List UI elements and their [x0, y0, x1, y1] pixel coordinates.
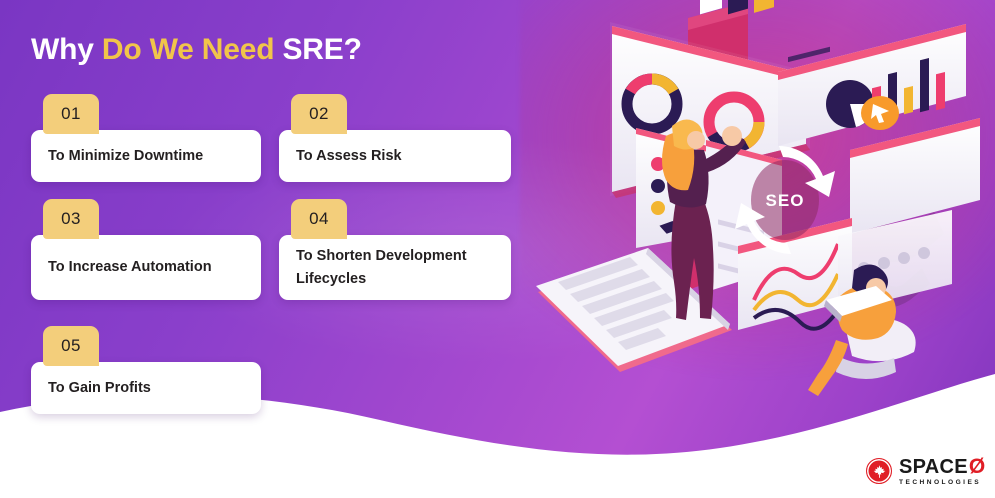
reason-number-badge: 04: [291, 199, 347, 239]
reason-number-badge: 02: [291, 94, 347, 134]
cursor-badge-icon: [861, 96, 899, 130]
brand-wordmark: SPACEØ TECHNOLOGIES: [899, 456, 986, 487]
reason-label: To Increase Automation: [31, 235, 261, 300]
seo-label: SEO: [766, 191, 805, 210]
brand-name-text: SPACE: [899, 457, 968, 477]
reason-card-5[interactable]: 05 To Gain Profits: [31, 326, 261, 414]
seo-isometric-illustration: SEO: [520, 0, 995, 440]
reason-label: To Assess Risk: [279, 130, 511, 182]
page-title-part2: SRE?: [274, 33, 361, 66]
reason-card-2[interactable]: 02 To Assess Risk: [279, 94, 511, 182]
reason-label: To Shorten Development Lifecycles: [279, 235, 511, 300]
reason-card-4[interactable]: 04 To Shorten Development Lifecycles: [279, 199, 511, 300]
page-title: Why Do We Need SRE?: [31, 33, 362, 67]
reason-number-badge: 05: [43, 326, 99, 366]
reason-label: To Gain Profits: [31, 362, 261, 414]
brand-o-icon: Ø: [969, 456, 986, 477]
brand-logo: SPACEØ TECHNOLOGIES: [866, 456, 986, 487]
reason-number-badge: 03: [43, 199, 99, 239]
reason-card-3[interactable]: 03 To Increase Automation: [31, 199, 261, 300]
page-title-highlight: Do We Need: [102, 33, 274, 66]
brand-tagline: TECHNOLOGIES: [899, 480, 986, 487]
reason-label: To Minimize Downtime: [31, 130, 261, 182]
reason-card-1[interactable]: 01 To Minimize Downtime: [31, 94, 261, 182]
reason-number-badge: 01: [43, 94, 99, 134]
brand-name: SPACEØ: [899, 456, 986, 477]
maple-leaf-icon: [866, 458, 892, 484]
page-title-part1: Why: [31, 33, 102, 66]
infographic-canvas: Why Do We Need SRE? 01 To Minimize Downt…: [0, 0, 995, 498]
